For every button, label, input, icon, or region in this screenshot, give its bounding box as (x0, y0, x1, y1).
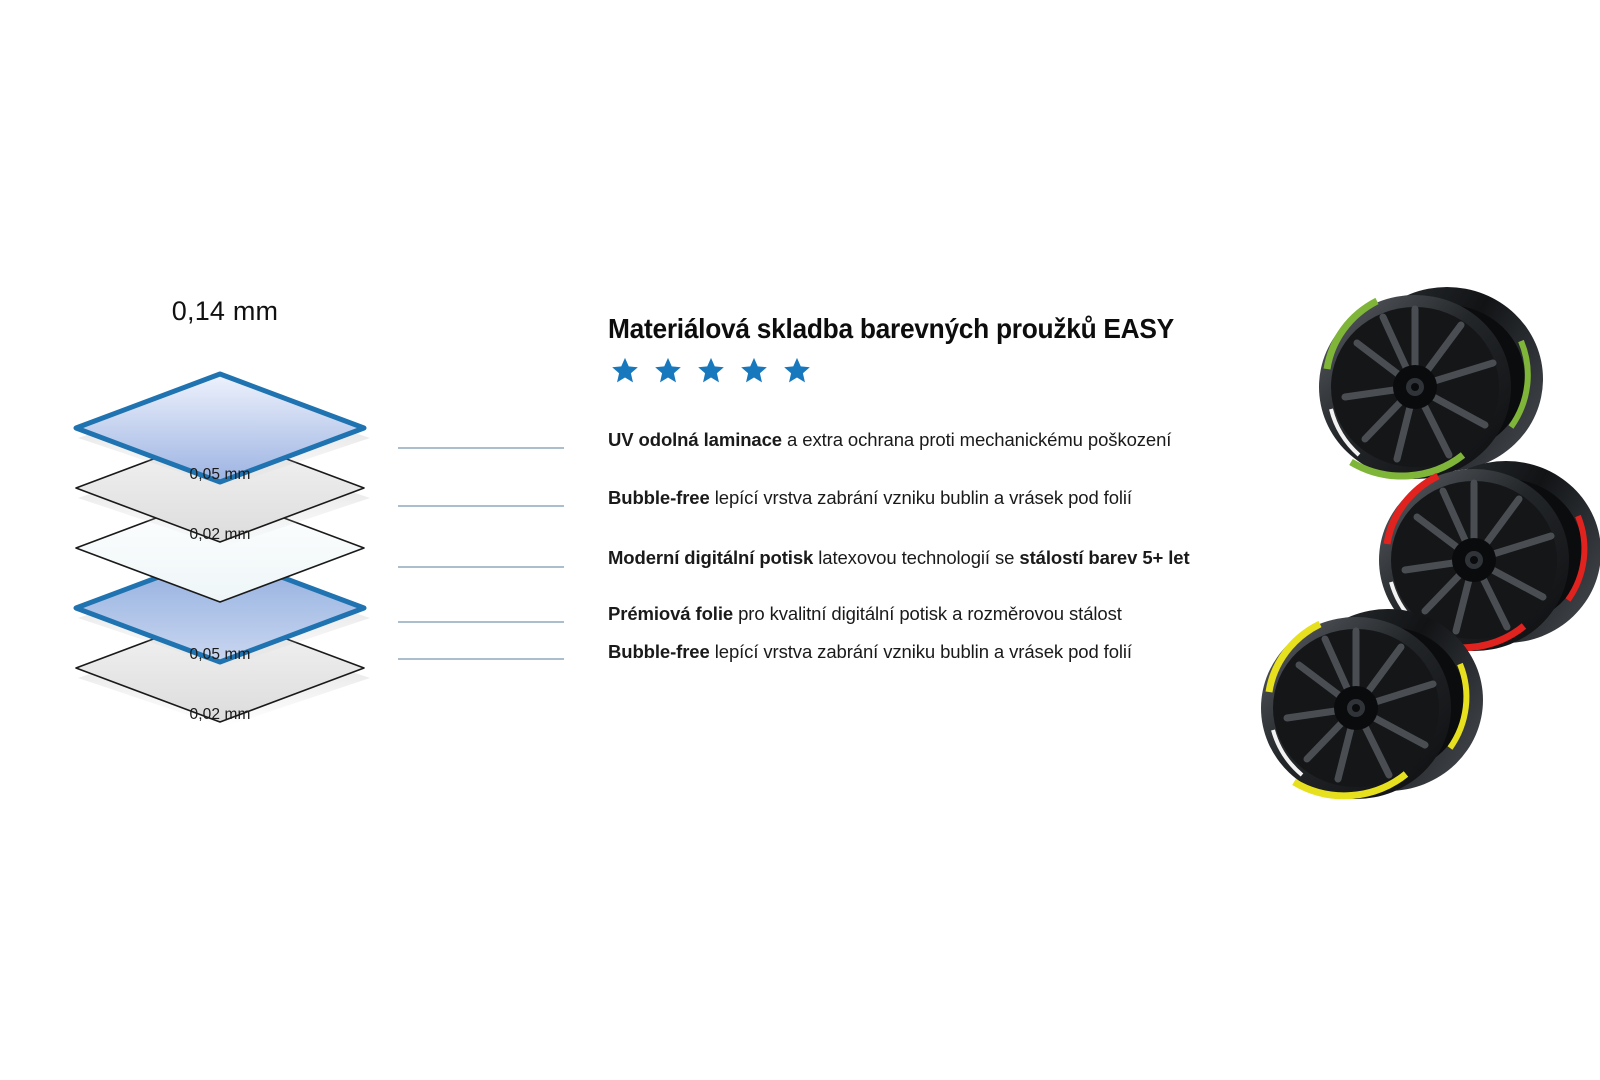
feature-item-bold-tail: stálostí barev 5+ let (1019, 547, 1189, 568)
material-layer-diagram: 0,14 mm 0,05 mm (55, 290, 395, 740)
connector-line (398, 621, 564, 623)
feature-item-bold: Prémiová folie (608, 603, 733, 624)
feature-item-text: pro kvalitní digitální potisk a rozměrov… (733, 603, 1122, 624)
feature-item: Bubble-free lepící vrstva zabrání vzniku… (608, 640, 1132, 663)
total-thickness-label: 0,14 mm (55, 296, 395, 327)
connector-line (398, 505, 564, 507)
star-icon (782, 356, 812, 385)
feature-item-bold: Bubble-free (608, 487, 710, 508)
feature-item-text: latexovou technologií se (813, 547, 1019, 568)
header-block: Materiálová skladba barevných proužků EA… (608, 312, 1328, 385)
page-title: Materiálová skladba barevných proužků EA… (608, 312, 1285, 346)
feature-item: Prémiová folie pro kvalitní digitální po… (608, 602, 1122, 625)
connector-line (398, 658, 564, 660)
connector-line (398, 447, 564, 449)
star-icon (696, 356, 726, 385)
feature-item-bold: Moderní digitální potisk (608, 547, 813, 568)
connector-line (398, 566, 564, 568)
feature-item-bold: UV odolná laminace (608, 429, 782, 450)
feature-item-text: lepící vrstva zabrání vzniku bublin a vr… (710, 641, 1132, 662)
feature-item: Moderní digitální potisk latexovou techn… (608, 546, 1190, 569)
feature-item-text: lepící vrstva zabrání vzniku bublin a vr… (710, 487, 1132, 508)
layer-sheet-laminate: 0,05 mm (70, 366, 370, 492)
connector-lines (398, 420, 598, 680)
star-icon (653, 356, 683, 385)
rating-stars (610, 356, 1328, 385)
feature-item: UV odolná laminace a extra ochrana proti… (608, 428, 1171, 451)
star-icon (739, 356, 769, 385)
star-icon (610, 356, 640, 385)
feature-item: Bubble-free lepící vrstva zabrání vzniku… (608, 486, 1132, 509)
feature-item-bold: Bubble-free (608, 641, 710, 662)
motorcycle-wheel-yellow-stripe (1230, 600, 1498, 808)
feature-item-text: a extra ochrana proti mechanickému poško… (782, 429, 1171, 450)
